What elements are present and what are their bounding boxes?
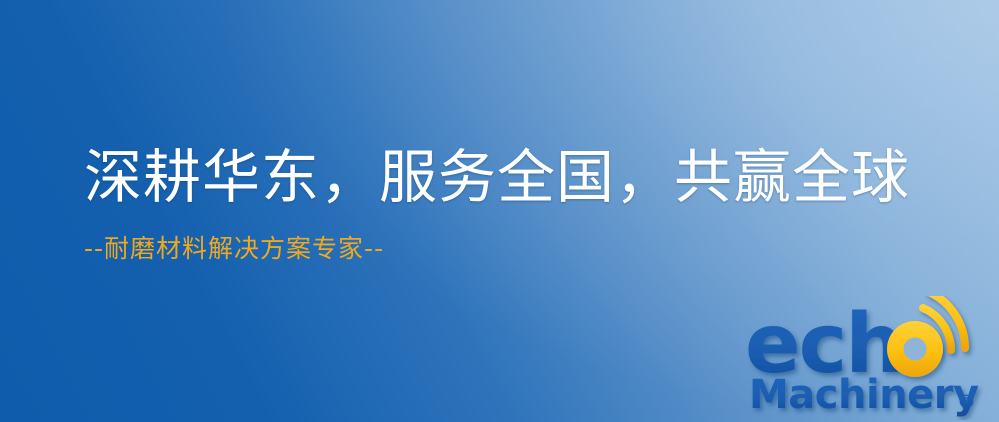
banner-headline: 深耕华东，服务全国，共赢全球 [84,146,910,209]
hero-banner: 深耕华东，服务全国，共赢全球 --耐磨材料解决方案专家-- [0,0,999,422]
logo-machinery-text: Machinery [749,372,979,418]
logo-registered-mark: ® [957,391,976,413]
banner-subtitle: --耐磨材料解决方案专家-- [84,235,910,263]
banner-text-block: 深耕华东，服务全国，共赢全球 --耐磨材料解决方案专家-- [84,146,910,262]
echo-machinery-logo: ech Machinery ® [739,296,991,420]
logo-echo-gold-o [887,321,943,377]
